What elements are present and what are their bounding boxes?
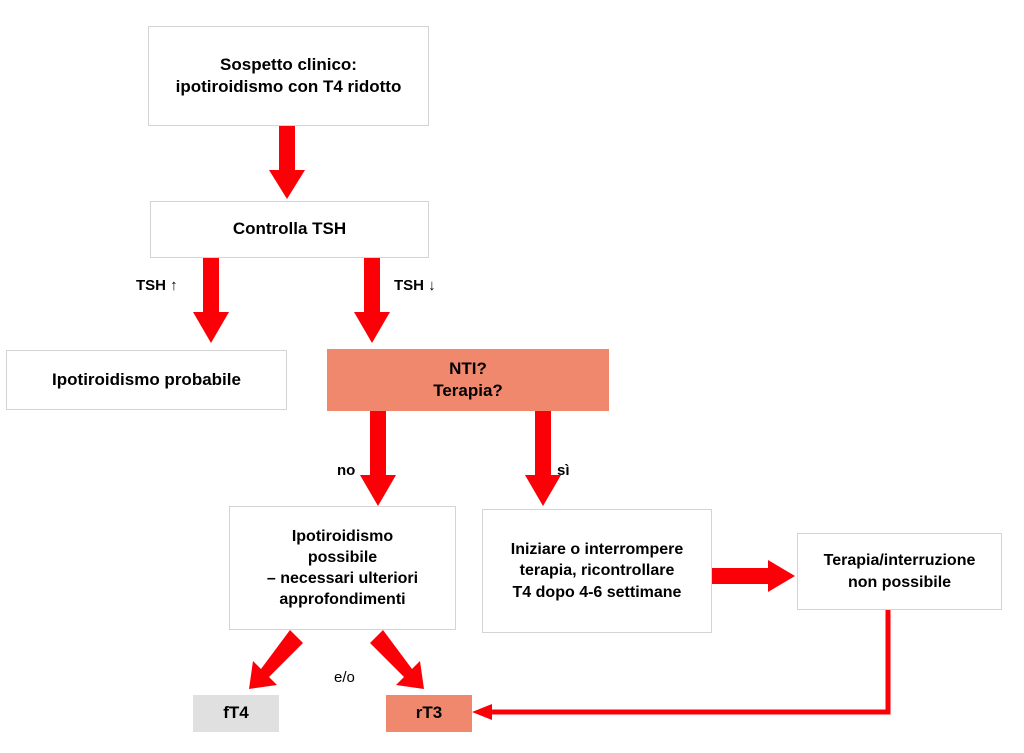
flowchart-canvas: Sospetto clinico: ipotiroidismo con T4 r…	[0, 0, 1024, 753]
node-line: Ipotiroidismo	[236, 526, 449, 547]
node-nti-terapia-text: NTI? Terapia?	[328, 358, 608, 403]
node-sospetto-clinico-text: Sospetto clinico: ipotiroidismo con T4 r…	[149, 54, 428, 99]
node-line: terapia, ricontrollare	[489, 560, 705, 581]
node-line: Controlla TSH	[157, 218, 422, 240]
node-line: ipotiroidismo con T4 ridotto	[155, 76, 422, 98]
edge-label-tsh-down: TSH ↓	[394, 277, 436, 294]
arrow-nti-si-to-iniziare-interrompere	[525, 410, 561, 506]
node-line: NTI?	[334, 358, 602, 380]
node-iniziare-interrompere-terapia-text: Iniziare o interrompere terapia, ricontr…	[483, 539, 711, 602]
edge-label-tsh-up: TSH ↑	[136, 277, 178, 294]
arrow-tsh-up-to-ipotiroidismo-probabile	[193, 258, 229, 343]
arrow-ipotiroidismo-possibile-to-ft4	[249, 630, 303, 689]
node-line: non possibile	[804, 572, 995, 593]
node-line: approfondimenti	[236, 589, 449, 610]
node-rt3[interactable]: rT3	[386, 695, 472, 732]
node-line: T4 dopo 4-6 settimane	[489, 582, 705, 603]
node-ft4-text: fT4	[194, 702, 278, 724]
arrow-ipotiroidismo-possibile-to-rt3	[370, 630, 424, 689]
node-iniziare-interrompere-terapia[interactable]: Iniziare o interrompere terapia, ricontr…	[482, 509, 712, 633]
node-line: Ipotiroidismo probabile	[13, 369, 280, 391]
node-line: possibile	[236, 547, 449, 568]
arrow-tsh-down-to-nti	[354, 258, 390, 343]
arrow-nti-no-to-ipotiroidismo-possibile	[360, 410, 396, 506]
node-line: Terapia/interruzione	[804, 550, 995, 571]
node-ipotiroidismo-possibile-text: Ipotiroidismo possibile – necessari ulte…	[230, 526, 455, 610]
node-line: rT3	[393, 702, 465, 724]
node-line: Terapia?	[334, 380, 602, 402]
node-terapia-interruzione-non-possibile-text: Terapia/interruzione non possibile	[798, 550, 1001, 592]
arrow-iniziare-to-terapia-non-possibile	[712, 560, 795, 592]
edge-label-e-o: e/o	[334, 669, 355, 686]
node-ipotiroidismo-possibile[interactable]: Ipotiroidismo possibile – necessari ulte…	[229, 506, 456, 630]
node-ipotiroidismo-probabile-text: Ipotiroidismo probabile	[7, 369, 286, 391]
node-ft4[interactable]: fT4	[193, 695, 279, 732]
node-sospetto-clinico[interactable]: Sospetto clinico: ipotiroidismo con T4 r…	[148, 26, 429, 126]
arrow-sospetto-to-controlla-tsh	[269, 126, 305, 199]
node-line: Iniziare o interrompere	[489, 539, 705, 560]
node-line: Sospetto clinico:	[155, 54, 422, 76]
node-line: – necessari ulteriori	[236, 568, 449, 589]
node-terapia-interruzione-non-possibile[interactable]: Terapia/interruzione non possibile	[797, 533, 1002, 610]
edge-label-no: no	[337, 462, 355, 479]
node-controlla-tsh[interactable]: Controlla TSH	[150, 201, 429, 258]
node-ipotiroidismo-probabile[interactable]: Ipotiroidismo probabile	[6, 350, 287, 410]
node-controlla-tsh-text: Controlla TSH	[151, 218, 428, 240]
node-nti-terapia[interactable]: NTI? Terapia?	[327, 349, 609, 411]
edge-label-si: sì	[557, 462, 570, 479]
node-line: fT4	[200, 702, 272, 724]
node-rt3-text: rT3	[387, 702, 471, 724]
